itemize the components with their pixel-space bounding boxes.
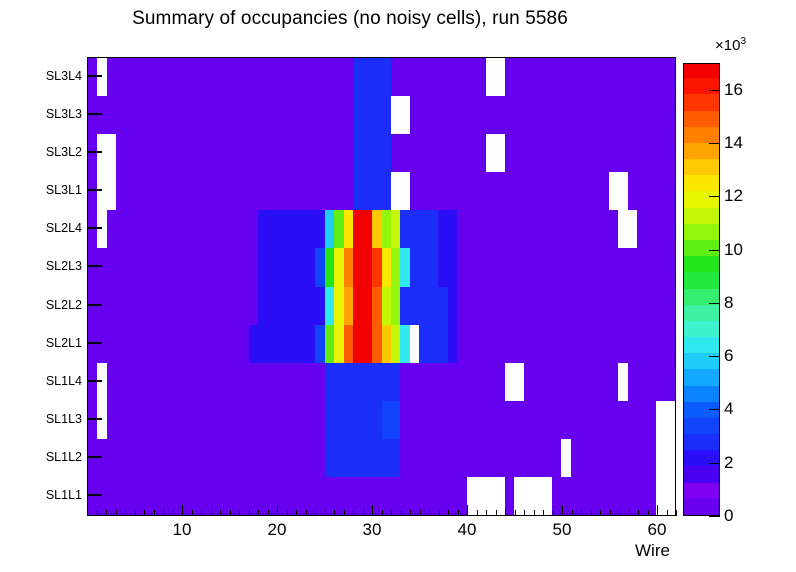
x-axis-minor-tick [543,510,544,516]
color-bar-segment [684,126,719,143]
color-bar-tick-label: 16 [724,80,743,100]
y-axis-tick [87,227,102,229]
x-axis-minor-tick [325,510,326,516]
x-axis-minor-tick [667,510,668,516]
x-axis-minor-tick [230,510,231,516]
x-axis-minor-tick [391,510,392,516]
x-axis-minor-tick [154,510,155,516]
color-bar-tick [709,196,720,197]
x-axis-minor-tick [572,510,573,516]
y-axis-tick [87,342,102,344]
x-axis-tick-label: 40 [458,520,477,540]
color-bar-exponent-power: 3 [740,36,746,47]
color-bar-tick-label: 10 [724,240,743,260]
y-axis-tick-label: SL1L2 [46,450,82,464]
x-axis-major-tick [372,505,373,516]
x-axis-minor-tick [505,510,506,516]
heatmap-plot-frame [87,57,676,516]
x-axis-minor-tick [619,510,620,516]
heatmap-cell [666,401,676,440]
color-bar-segment [684,450,719,467]
x-axis-minor-tick [144,510,145,516]
x-axis-minor-tick [610,510,611,516]
x-axis-tick-label: 60 [648,520,667,540]
x-axis-major-tick [182,505,183,516]
color-bar-tick-label: 4 [724,399,733,419]
x-axis-minor-tick [239,510,240,516]
color-bar-segment [684,175,719,192]
x-axis-minor-tick [429,510,430,516]
y-axis-tick-label: SL1L3 [46,412,82,426]
color-bar-segment [684,385,719,402]
color-bar-tick-label: 6 [724,346,733,366]
heatmap-cell [666,210,676,249]
x-axis-minor-tick [600,510,601,516]
x-axis-tick-label: 10 [173,520,192,540]
color-bar-exponent: ×103 [715,36,746,54]
color-bar-segment [684,482,719,499]
x-axis-minor-tick [363,510,364,516]
color-bar-tick [709,250,720,251]
color-bar-segment [684,223,719,240]
y-axis-tick-label: SL2L1 [46,336,82,350]
color-bar-segment [684,207,719,224]
x-axis-minor-tick [439,510,440,516]
color-bar-segment [684,191,719,208]
color-bar-segment [684,110,719,127]
x-axis-minor-tick [173,510,174,516]
x-axis-minor-tick [382,510,383,516]
heatmap-cells [88,58,675,515]
x-axis-minor-tick [410,510,411,516]
y-axis-tick-label: SL3L4 [46,69,82,83]
y-axis-tick [87,113,102,115]
y-axis-tick-label: SL3L1 [46,183,82,197]
x-axis-minor-tick [448,510,449,516]
color-bar-segment [684,239,719,256]
root-canvas: Summary of occupancies (no noisy cells),… [0,0,796,572]
color-bar-tick [709,90,720,91]
color-bar-tick-label: 14 [724,133,743,153]
x-axis-minor-tick [249,510,250,516]
y-axis-tick [87,189,102,191]
heatmap-cell [666,248,676,287]
color-bar-tick [709,143,720,144]
y-axis-tick-label: SL2L4 [46,221,82,235]
y-axis-tick [87,304,102,306]
x-axis-minor-tick [458,510,459,516]
heatmap-cell [666,58,676,97]
x-axis-minor-tick [201,510,202,516]
x-axis-minor-tick [315,510,316,516]
color-bar-tick-label: 8 [724,293,733,313]
x-axis-minor-tick [638,510,639,516]
color-bar-segment [684,434,719,451]
x-axis-minor-tick [258,510,259,516]
x-axis-minor-tick [420,510,421,516]
color-bar-tick-label: 2 [724,453,733,473]
color-bar-segment [684,158,719,175]
color-bar-segment [684,320,719,337]
x-axis-minor-tick [296,510,297,516]
x-axis-minor-tick [676,510,677,516]
x-axis-minor-tick [97,510,98,516]
x-axis-minor-tick [591,510,592,516]
y-axis-tick-label: SL2L3 [46,259,82,273]
heatmap-cell [666,172,676,211]
x-axis-minor-tick [629,510,630,516]
color-bar-tick-label: 0 [724,506,733,526]
x-axis-minor-tick [553,510,554,516]
y-axis-labels: SL3L4SL3L3SL3L2SL3L1SL2L4SL2L3SL2L2SL2L1… [0,0,82,572]
x-axis-tick-label: 50 [553,520,572,540]
x-axis-minor-tick [135,510,136,516]
color-bar-segment [684,336,719,353]
color-bar-segment [684,498,719,515]
heatmap-cell [666,287,676,326]
heatmap-cell [666,363,676,402]
heatmap-cell [666,325,676,364]
x-axis-minor-tick [477,510,478,516]
x-axis-minor-tick [306,510,307,516]
x-axis-minor-tick [486,510,487,516]
x-axis-major-tick [467,505,468,516]
color-bar-segment [684,142,719,159]
y-axis-tick-label: SL1L4 [46,374,82,388]
color-bar-segment [684,78,719,95]
color-bar-segment [684,63,719,78]
x-axis-minor-tick [401,510,402,516]
x-axis-minor-tick [211,510,212,516]
x-axis-minor-tick [534,510,535,516]
y-axis-tick-label: SL3L2 [46,145,82,159]
page-title: Summary of occupancies (no noisy cells),… [0,8,700,30]
y-axis-tick [87,418,102,420]
color-bar-tick [709,356,720,357]
color-bar-segment [684,256,719,273]
color-bar-segment [684,369,719,386]
y-axis-tick-label: SL1L1 [46,488,82,502]
color-bar-segment [684,304,719,321]
x-axis-minor-tick [163,510,164,516]
y-axis-tick [87,456,102,458]
x-axis-minor-tick [581,510,582,516]
color-bar-exponent-base: ×10 [715,37,740,54]
y-axis-tick [87,380,102,382]
x-axis-minor-tick [268,510,269,516]
x-axis-minor-tick [496,510,497,516]
x-axis-minor-tick [353,510,354,516]
x-axis-tick-label: 20 [268,520,287,540]
heatmap-cell [666,96,676,135]
color-bar-segment [684,94,719,111]
color-bar-tick [709,409,720,410]
color-bar-segment [684,417,719,434]
y-axis-tick [87,151,102,153]
y-axis-tick [87,75,102,77]
x-axis-title: Wire [635,541,670,561]
color-bar-tick-label: 12 [724,186,743,206]
x-axis-major-tick [657,505,658,516]
y-axis-tick-label: SL2L2 [46,298,82,312]
color-bar-segment [684,466,719,483]
x-axis-minor-tick [116,510,117,516]
x-axis-major-tick [562,505,563,516]
x-axis-minor-tick [648,510,649,516]
color-bar-tick [709,463,720,464]
x-axis-minor-tick [192,510,193,516]
x-axis-minor-tick [220,510,221,516]
x-axis-minor-tick [524,510,525,516]
y-axis-tick-label: SL3L3 [46,107,82,121]
x-axis-minor-tick [125,510,126,516]
x-axis-minor-tick [287,510,288,516]
heatmap-cell [666,134,676,173]
x-axis-minor-tick [334,510,335,516]
x-axis-tick-label: 30 [363,520,382,540]
x-axis-minor-tick [515,510,516,516]
y-axis-tick [87,494,102,496]
heatmap-cell [666,439,676,478]
x-axis-major-tick [277,505,278,516]
color-bar-tick [709,516,720,517]
color-bar-tick [709,303,720,304]
y-axis-tick [87,265,102,267]
color-bar [683,63,720,516]
color-bar-segment [684,272,719,289]
x-axis-minor-tick [344,510,345,516]
x-axis-minor-tick [106,510,107,516]
